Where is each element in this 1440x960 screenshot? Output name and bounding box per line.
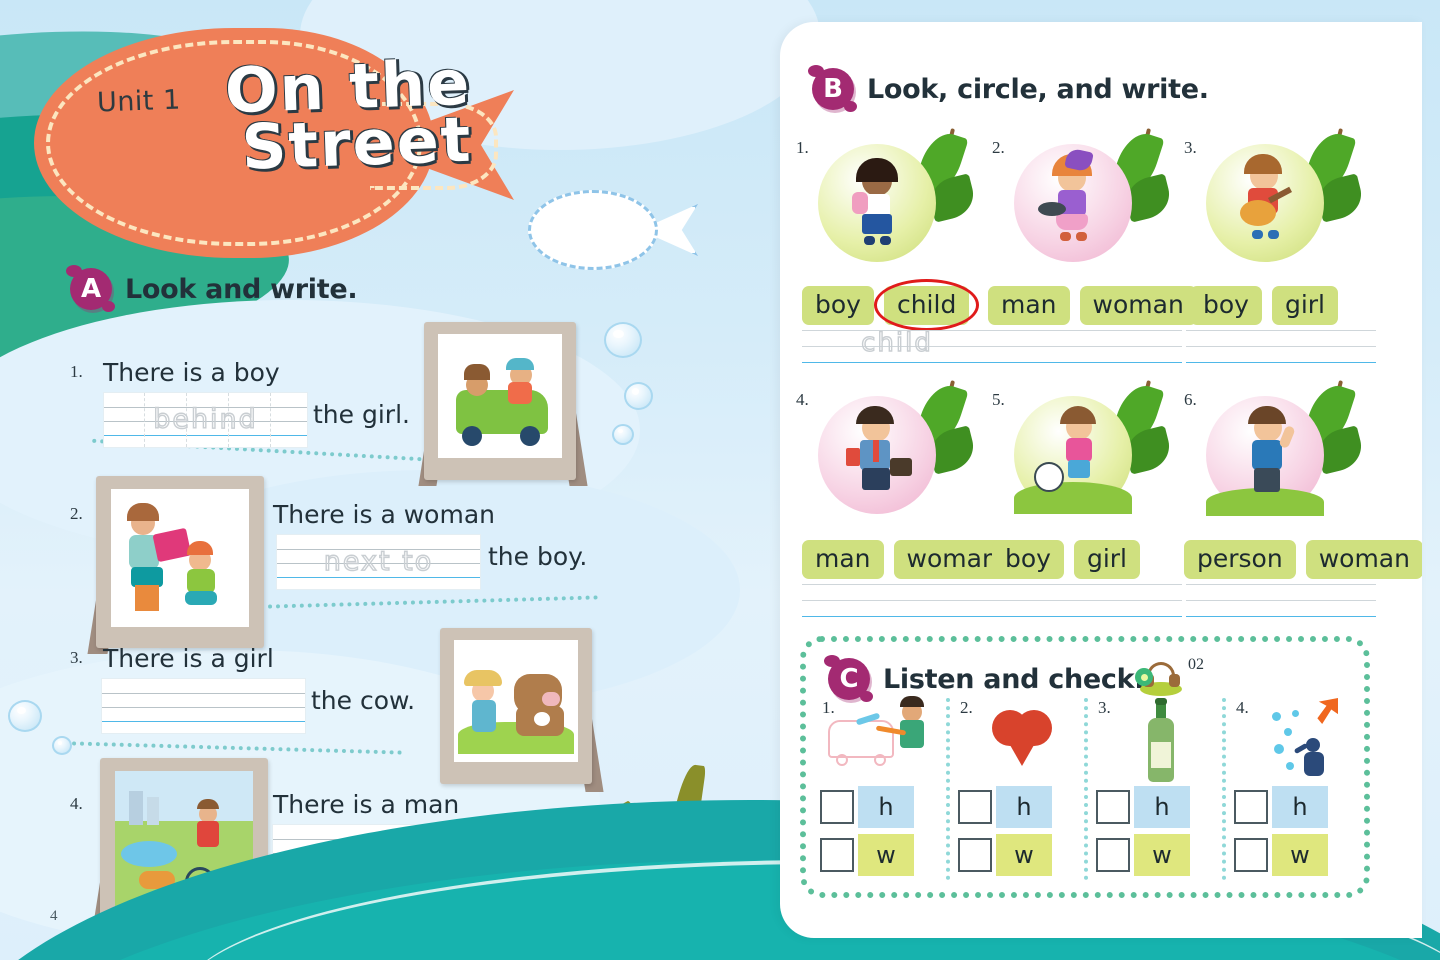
page-number-left: 4 — [50, 908, 58, 925]
answer-line-b4[interactable] — [802, 584, 992, 632]
exercise-c-item-1: 1. h w — [818, 694, 954, 890]
answer-line-b1[interactable]: child — [802, 330, 992, 378]
photo-boy-and-girl-in-toy-car — [438, 334, 562, 458]
fish-outline-decoration — [528, 182, 700, 278]
headphones-icon — [1138, 662, 1184, 696]
sentence-start: There is a man — [273, 790, 459, 819]
page-title: On the Street — [187, 52, 511, 177]
item-number: 1. — [70, 362, 83, 382]
sticker-label-h: h — [858, 786, 914, 828]
choice-row-h: h — [1096, 786, 1190, 828]
answer-line-b2[interactable] — [992, 330, 1182, 378]
section-a-header: A Look and write. — [70, 268, 690, 310]
sentence-start: There is a girl — [103, 644, 274, 673]
fish-outline-body — [528, 190, 658, 270]
picture-b6 — [1206, 378, 1362, 518]
page-number-right: 5 — [1382, 906, 1390, 923]
choice-row-w: w — [1096, 834, 1190, 876]
word-options-b1: boy child — [802, 286, 969, 325]
sentence-start: There is a boy — [103, 358, 280, 387]
section-a: A Look and write. — [70, 268, 690, 310]
sentence-start: There is a woman — [273, 500, 495, 529]
word-option[interactable]: man — [988, 286, 1070, 325]
item-number: 2. — [960, 698, 973, 718]
item-number: 1. — [796, 138, 809, 158]
sticker-label-w: w — [1272, 834, 1328, 876]
word-option[interactable]: boy — [802, 286, 874, 325]
checkbox-h[interactable] — [1234, 790, 1268, 824]
word-option[interactable]: woman — [1306, 540, 1422, 579]
photo-woman-reading-to-boy — [111, 489, 249, 627]
traced-answer: next to — [277, 546, 480, 577]
word-options-b3: boy girl — [1190, 286, 1338, 325]
bubble-icon — [624, 382, 653, 410]
section-b-title: Look, circle, and write. — [867, 74, 1209, 105]
picture-frame-a1 — [424, 322, 576, 480]
answer-line-2[interactable]: next to — [276, 534, 481, 590]
section-c: C Listen and check. 02 1. h — [800, 636, 1370, 898]
bubble-icon — [604, 322, 642, 358]
item-number: 4. — [70, 794, 83, 814]
item-number: 5. — [992, 390, 1005, 410]
photo-girl-with-cow — [454, 640, 578, 762]
bubble-icon — [612, 424, 634, 445]
traced-answer: child — [802, 326, 992, 360]
word-option-circled[interactable]: child — [884, 286, 969, 325]
item-number: 2. — [992, 138, 1005, 158]
photo-man-with-briefcase — [818, 396, 936, 514]
sentence-end: the cow. — [311, 686, 415, 715]
choice-row-w: w — [820, 834, 914, 876]
workbook-spread: Unit 1 On the Street A Look and write. 1… — [0, 0, 1440, 960]
word-option[interactable]: man — [802, 540, 884, 579]
word-option[interactable]: woman — [1080, 286, 1197, 325]
word-options-b6: person woman — [1184, 540, 1422, 579]
checkbox-h[interactable] — [1096, 790, 1130, 824]
word-option[interactable]: girl — [1074, 540, 1140, 579]
checkbox-h[interactable] — [820, 790, 854, 824]
section-a-title: Look and write. — [125, 274, 357, 305]
picture-frame-a3 — [440, 628, 592, 784]
word-options-b2: man woman — [988, 286, 1197, 325]
answer-line-b5[interactable] — [992, 584, 1182, 632]
unit-title-banner: Unit 1 On the Street — [34, 18, 534, 266]
choice-row-h: h — [958, 786, 1052, 828]
choice-row-h: h — [1234, 786, 1328, 828]
checkbox-w[interactable] — [820, 838, 854, 872]
word-option[interactable]: person — [1184, 540, 1296, 579]
checkbox-w[interactable] — [958, 838, 992, 872]
title-line-2: Street — [203, 109, 511, 177]
photo-woman-with-frying-pan — [1014, 144, 1132, 262]
checkbox-w[interactable] — [1096, 838, 1130, 872]
sticker-label-w: w — [1134, 834, 1190, 876]
photo-red-heart — [992, 710, 1054, 766]
picture-frame-a2 — [96, 476, 264, 648]
item-number: 6. — [1184, 390, 1197, 410]
picture-b4 — [818, 378, 974, 518]
word-option[interactable]: boy — [1190, 286, 1262, 325]
choice-row-w: w — [958, 834, 1052, 876]
sticker-label-w: w — [858, 834, 914, 876]
checkbox-h[interactable] — [958, 790, 992, 824]
sticker-label-h: h — [1272, 786, 1328, 828]
item-number: 3. — [70, 648, 83, 668]
exercise-c-item-2: 2. h w — [956, 694, 1092, 890]
item-number: 4. — [1236, 698, 1249, 718]
exercise-c-item-3: 3. h w — [1094, 694, 1230, 890]
unit-label: Unit 1 — [96, 85, 181, 119]
traced-answer: behind — [104, 404, 307, 435]
answer-line-1[interactable]: behind — [103, 392, 308, 448]
bubble-icon — [52, 736, 72, 755]
word-options-b4: man woman — [802, 540, 1011, 579]
item-number: 4. — [796, 390, 809, 410]
photo-green-bottle — [1146, 698, 1176, 782]
choice-row-w: w — [1234, 834, 1328, 876]
photo-boy-washing-car — [828, 720, 894, 758]
picture-b3 — [1206, 126, 1362, 266]
picture-b2 — [1014, 126, 1170, 266]
photo-boy-with-guitar — [1206, 144, 1324, 262]
item-number: 3. — [1098, 698, 1111, 718]
photo-girl-with-soccer-ball — [1014, 396, 1132, 514]
sticker-label-w: w — [996, 834, 1052, 876]
photo-person-running-in-water — [1270, 700, 1340, 782]
section-b-header: B Look, circle, and write. — [812, 68, 1209, 110]
photo-girl-with-backpack — [818, 144, 936, 262]
picture-b5 — [1014, 378, 1170, 518]
exercise-c-item-4: 4. h w — [1232, 694, 1368, 890]
word-options-b5: boy girl — [992, 540, 1140, 579]
photo-man-waving — [1206, 396, 1324, 514]
answer-line-b6[interactable] — [1186, 584, 1376, 632]
choice-row-h: h — [820, 786, 914, 828]
sticker-label-h: h — [996, 786, 1052, 828]
item-number: 1. — [822, 698, 835, 718]
item-number: 2. — [70, 504, 83, 524]
audio-track-number: 02 — [1188, 656, 1204, 674]
sentence-end: the boy. — [488, 542, 587, 571]
section-b-badge: B — [812, 68, 854, 110]
word-option[interactable]: girl — [1272, 286, 1338, 325]
picture-b1 — [818, 126, 974, 266]
sentence-end: the girl. — [313, 400, 410, 429]
checkbox-w[interactable] — [1234, 838, 1268, 872]
item-number: 3. — [1184, 138, 1197, 158]
section-c-title: Listen and check. — [883, 664, 1144, 695]
section-a-badge: A — [70, 268, 112, 310]
word-option[interactable]: boy — [992, 540, 1064, 579]
bubble-icon — [8, 700, 42, 732]
sticker-label-h: h — [1134, 786, 1190, 828]
answer-line-b3[interactable] — [1186, 330, 1376, 378]
answer-line-3[interactable] — [101, 678, 306, 734]
